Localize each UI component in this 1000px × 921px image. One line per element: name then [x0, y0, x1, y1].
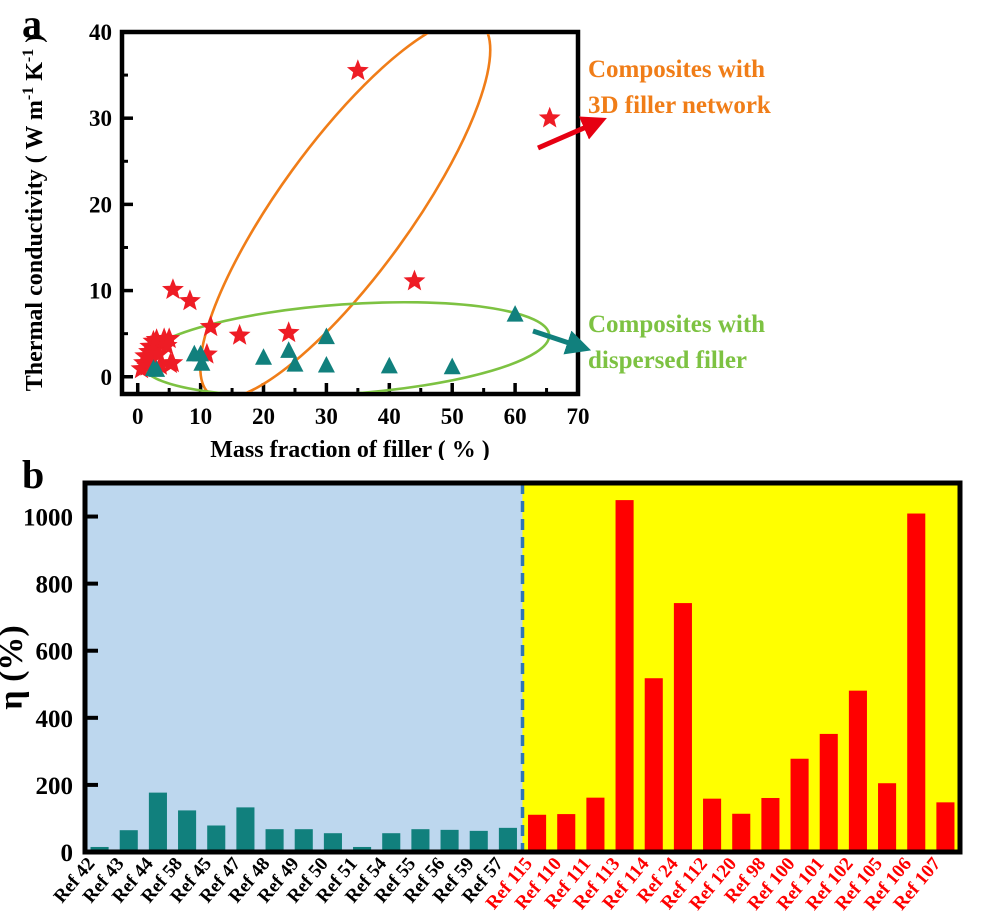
green-annotation-line1: Composites with — [588, 311, 765, 338]
x-tick-label: 20 — [252, 404, 275, 429]
bar — [295, 829, 313, 852]
panel-a-axes-frame — [122, 32, 578, 394]
y-axis-label: η (%) — [0, 625, 30, 709]
x-tick-label: 10 — [189, 404, 212, 429]
bar — [382, 833, 400, 852]
panel-a-plot: 010203040506070010203040Mass fraction of… — [0, 0, 1000, 460]
y-tick-label: 1000 — [23, 505, 73, 532]
bar — [645, 678, 663, 852]
svg-text:Thermal conductivity ( W m-1 K: Thermal conductivity ( W m-1 K-1 ) — [20, 35, 48, 391]
y-tick-label: 800 — [36, 572, 74, 599]
panel-b-letter: b — [22, 455, 44, 495]
y-tick-label: 0 — [61, 840, 74, 867]
y-tick-label: 40 — [89, 20, 112, 45]
bar — [791, 759, 809, 852]
panel-b-category-labels: Ref 42Ref 43Ref 44Ref 58Ref 45Ref 47Ref … — [50, 853, 946, 914]
green-annotation-line2: dispersed filler — [588, 347, 747, 374]
bar — [907, 514, 925, 852]
x-tick-label: 60 — [504, 404, 527, 429]
bar — [732, 814, 750, 852]
x-tick-label: 70 — [567, 404, 590, 429]
bar — [236, 807, 254, 852]
y-axis-label: Thermal conductivity ( W m-1 K-1 ) — [20, 35, 48, 391]
y-tick-label: 30 — [89, 106, 112, 131]
bar — [586, 798, 604, 852]
bar — [324, 833, 342, 852]
x-tick-label: 30 — [315, 404, 338, 429]
bar — [149, 793, 167, 852]
bar — [849, 691, 867, 852]
orange-annotation-line2: 3D filler network — [588, 92, 771, 119]
bar — [878, 783, 896, 852]
bar — [528, 815, 546, 852]
bar — [703, 799, 721, 852]
bar — [441, 830, 459, 852]
x-tick-label: 50 — [441, 404, 464, 429]
bar — [616, 500, 634, 852]
panel-a: a 010203040506070010203040Mass fraction … — [0, 0, 1000, 460]
bar — [761, 798, 779, 852]
y-tick-label: 400 — [36, 706, 74, 733]
bar — [499, 828, 517, 852]
y-tick-label: 0 — [101, 365, 113, 390]
bar — [936, 802, 954, 852]
bar — [470, 831, 488, 852]
bar — [266, 829, 284, 852]
y-tick-label: 600 — [36, 639, 74, 666]
y-tick-label: 200 — [36, 773, 74, 800]
x-tick-label: 0 — [132, 404, 144, 429]
bar — [120, 830, 138, 852]
y-tick-label: 20 — [89, 192, 112, 217]
panel-b: b 02004006008001000η (%)Ref 42Ref 43Ref … — [0, 455, 1000, 921]
bar — [557, 814, 575, 852]
panel-b-plot: 02004006008001000η (%)Ref 42Ref 43Ref 44… — [0, 455, 1000, 921]
bar — [207, 826, 225, 853]
figure-root: a 010203040506070010203040Mass fraction … — [0, 0, 1000, 921]
panel-a-letter: a — [22, 4, 42, 44]
orange-annotation-line1: Composites with — [588, 56, 765, 83]
y-tick-label: 10 — [89, 279, 112, 304]
bar — [178, 810, 196, 852]
svg-text:η (%): η (%) — [0, 625, 30, 709]
bar — [820, 734, 838, 852]
bar — [411, 829, 429, 852]
bar — [674, 603, 692, 852]
x-tick-label: 40 — [378, 404, 401, 429]
